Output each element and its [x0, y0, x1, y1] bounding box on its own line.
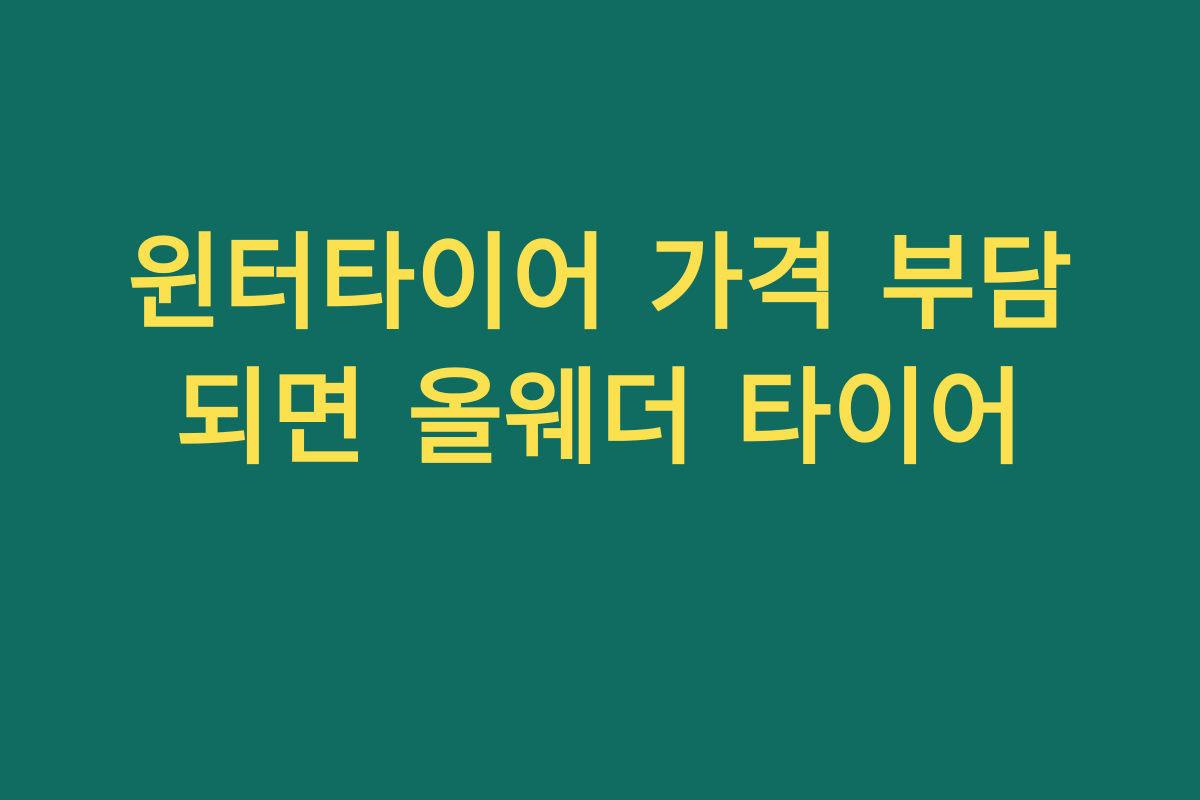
headline-text: 윈터타이어 가격 부담되면 올웨더 타이어: [55, 217, 1145, 487]
banner-canvas: 윈터타이어 가격 부담되면 올웨더 타이어: [0, 0, 1200, 800]
